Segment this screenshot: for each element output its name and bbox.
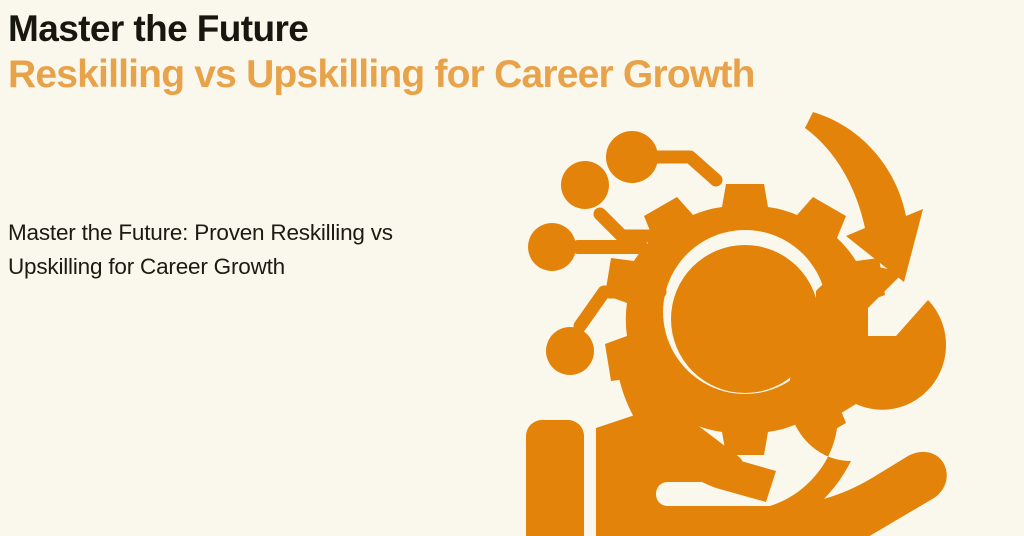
node-dot-4	[546, 327, 594, 375]
body-copy-line-2: Upskilling for Career Growth	[8, 250, 478, 284]
body-copy: Master the Future: Proven Reskilling vs …	[8, 216, 478, 284]
poster-canvas: Master the Future Reskilling vs Upskilli…	[0, 0, 1024, 536]
headline-block: Master the Future Reskilling vs Upskilli…	[8, 6, 938, 99]
sleeve-cuff	[526, 420, 584, 536]
node-dot-1	[606, 131, 658, 183]
connector-line-1	[658, 157, 716, 180]
node-dot-2	[561, 161, 609, 209]
headline-line-2: Reskilling vs Upskilling for Career Grow…	[8, 51, 938, 99]
body-copy-line-1: Master the Future: Proven Reskilling vs	[8, 216, 478, 250]
node-dot-3	[528, 223, 576, 271]
reskilling-upskilling-illustration	[508, 104, 988, 536]
headline-line-1: Master the Future	[8, 6, 938, 51]
